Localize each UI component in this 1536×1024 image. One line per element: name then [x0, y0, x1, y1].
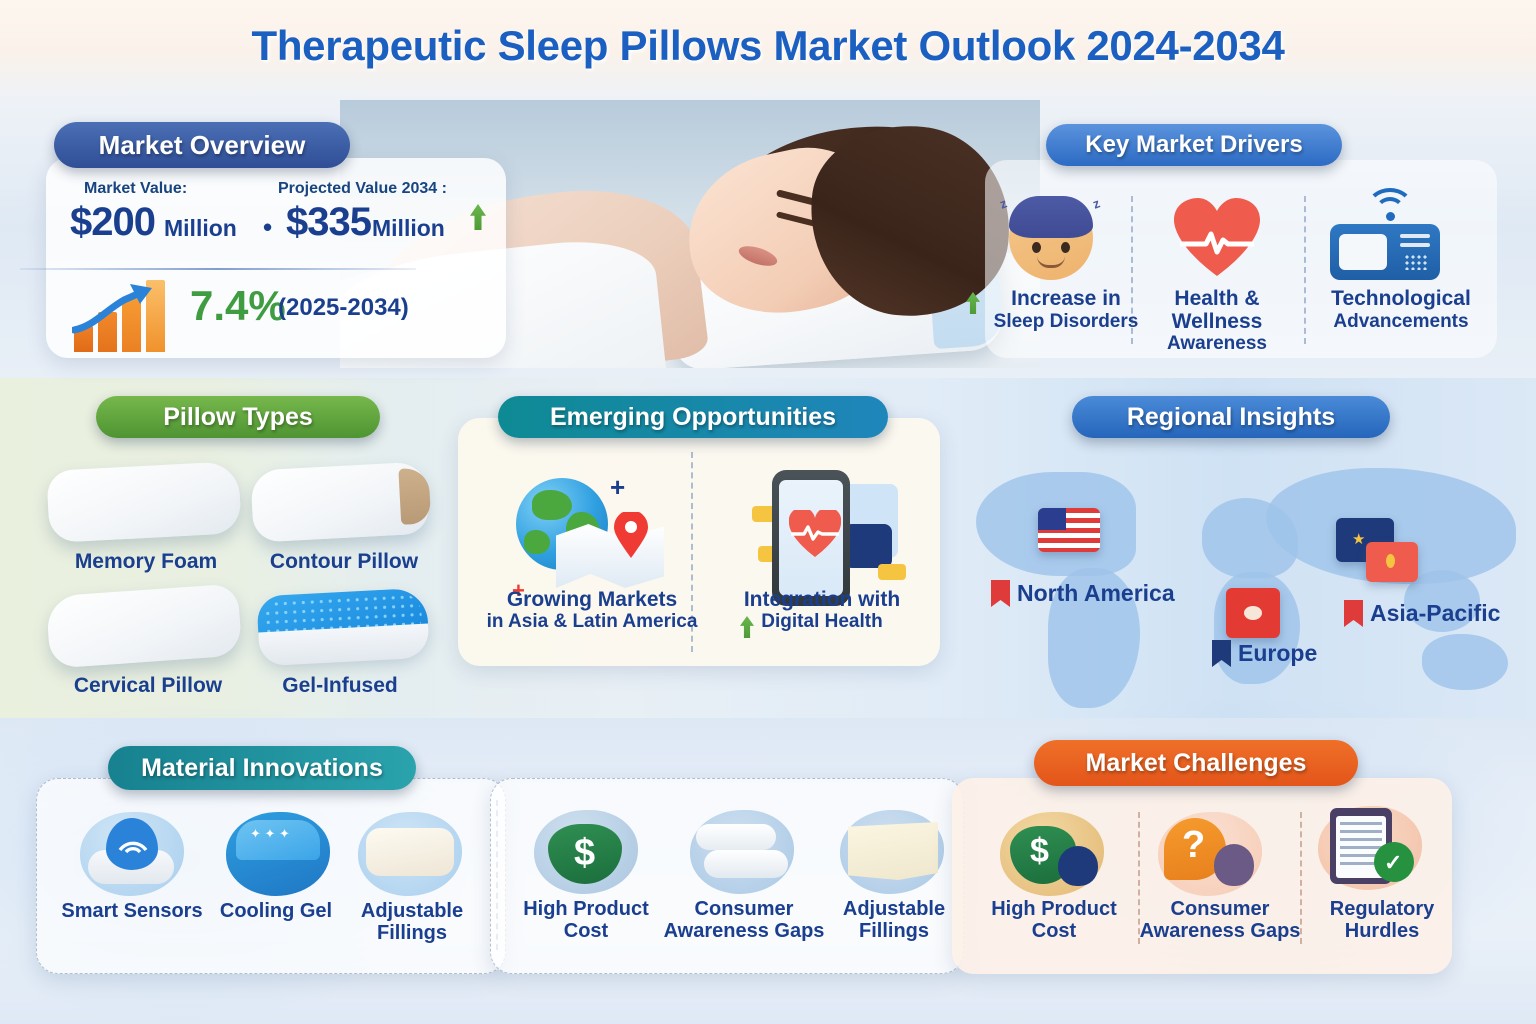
- regional-insights-pill-label: Regional Insights: [1127, 403, 1335, 432]
- challenge-0: High Product Cost: [972, 898, 1136, 943]
- asia-flag-icon-2: [1366, 542, 1418, 582]
- cagr-period: (2025-2034): [278, 294, 409, 322]
- pillow-type-1-label: Contour Pillow: [244, 550, 444, 574]
- red-bookmark-icon-2: [1344, 600, 1363, 627]
- cervical-pillow-icon: [46, 583, 243, 668]
- contour-pillow-icon: [250, 461, 430, 542]
- projected-value-unit: Million: [372, 215, 445, 242]
- plus-icon: +: [610, 472, 625, 503]
- challenge-1: Consumer Awareness Gaps: [1138, 898, 1302, 943]
- pillow-type-contour: Contour Pillow: [244, 550, 444, 574]
- driver-health-wellness: Health & Wellness Awareness: [1133, 288, 1301, 355]
- emerging-opportunities-pill-label: Emerging Opportunities: [550, 403, 836, 432]
- pillow-type-memory-foam: Memory Foam: [46, 550, 246, 574]
- smart-device-wifi-icon: [1330, 188, 1440, 280]
- pillow-type-0-label: Memory Foam: [46, 550, 246, 574]
- market-value-unit: Million: [164, 215, 237, 242]
- growth-bar-chart-icon: [74, 278, 174, 352]
- driver-3-line1: Technological: [1306, 288, 1496, 311]
- driver-technological: Technological Advancements: [1306, 288, 1496, 332]
- material-innovations-pill: Material Innovations: [108, 746, 416, 790]
- red-bookmark-icon: [991, 580, 1010, 607]
- middle-item-1: Consumer Awareness Gaps: [662, 898, 826, 943]
- opportunity-0-line2: in Asia & Latin America: [482, 611, 702, 633]
- material-innovation-2: Adjustable Fillings: [330, 900, 494, 945]
- key-market-drivers-pill: Key Market Drivers: [1046, 124, 1342, 166]
- driver-1-line1: Increase in: [982, 288, 1150, 311]
- pillow-types-pill: Pillow Types: [96, 396, 380, 438]
- region-europe: Europe: [1212, 640, 1317, 667]
- region-north-america: North America: [991, 580, 1175, 607]
- region-2-label: Asia-Pacific: [1370, 600, 1500, 627]
- material-innovations-pill-label: Material Innovations: [141, 754, 383, 783]
- europe-flag-icon: [1226, 588, 1280, 638]
- pillow-types-pill-label: Pillow Types: [163, 403, 313, 432]
- gel-infused-pillow-icon: [256, 588, 429, 663]
- driver-2-line2: Awareness: [1133, 333, 1301, 354]
- regional-insights-pill: Regional Insights: [1072, 396, 1390, 438]
- pillow-type-2-label: Cervical Pillow: [48, 674, 248, 698]
- material-innovation-0: Smart Sensors: [50, 900, 214, 922]
- key-market-drivers-pill-label: Key Market Drivers: [1085, 131, 1302, 159]
- opportunity-digital-health: Integration with Digital Health: [712, 588, 932, 633]
- region-1-label: Europe: [1238, 640, 1317, 667]
- market-overview-pill-label: Market Overview: [99, 130, 306, 161]
- region-asia-pacific: Asia-Pacific: [1344, 600, 1500, 627]
- pillow-type-gel: Gel-Infused: [240, 674, 440, 698]
- challenge-2: Regulatory Hurdles: [1300, 898, 1464, 943]
- usa-flag-icon: [1038, 508, 1100, 552]
- mobile-health-icon: [772, 470, 850, 606]
- driver-3-line2: Advancements: [1306, 311, 1496, 332]
- opportunity-growing-markets: Growing Markets in Asia & Latin America: [482, 588, 702, 633]
- projected-value-label: Projected Value 2034 :: [278, 180, 447, 198]
- market-challenges-pill-label: Market Challenges: [1086, 749, 1307, 778]
- clipboard-check-icon: ✓: [1318, 806, 1422, 890]
- middle-item-0: High Product Cost: [504, 898, 668, 943]
- heart-pulse-icon: [1174, 198, 1260, 278]
- navy-bookmark-icon: [1212, 640, 1231, 667]
- pillow-type-3-label: Gel-Infused: [240, 674, 440, 698]
- driver-sleep-disorders: Increase in Sleep Disorders: [982, 288, 1150, 332]
- money-bag-dark-icon: $: [1000, 812, 1104, 896]
- market-value: $200: [70, 200, 155, 245]
- driver-1-line2: Sleep Disorders: [982, 311, 1150, 332]
- emerging-opportunities-pill: Emerging Opportunities: [498, 396, 888, 438]
- region-0-label: North America: [1017, 580, 1175, 607]
- market-value-label: Market Value:: [84, 180, 187, 198]
- market-overview-pill: Market Overview: [54, 122, 350, 168]
- opportunity-0-line1: Growing Markets: [482, 588, 702, 611]
- folded-map-icon: [556, 524, 664, 588]
- opportunity-1-line2: Digital Health: [712, 611, 932, 633]
- pillow-type-cervical: Cervical Pillow: [48, 674, 248, 698]
- opportunity-1-line1: Integration with: [712, 588, 932, 611]
- projected-value: $335: [286, 200, 371, 245]
- cagr-value: 7.4%: [190, 282, 286, 330]
- memory-foam-pillow-icon: [46, 461, 242, 543]
- market-challenges-pill: Market Challenges: [1034, 740, 1358, 786]
- driver-2-line1: Health & Wellness: [1133, 288, 1301, 333]
- page-title: Therapeutic Sleep Pillows Market Outlook…: [0, 22, 1536, 70]
- market-overview-divider: [20, 268, 416, 270]
- value-separator: •: [263, 212, 272, 243]
- sleepy-face-icon: [1009, 196, 1093, 280]
